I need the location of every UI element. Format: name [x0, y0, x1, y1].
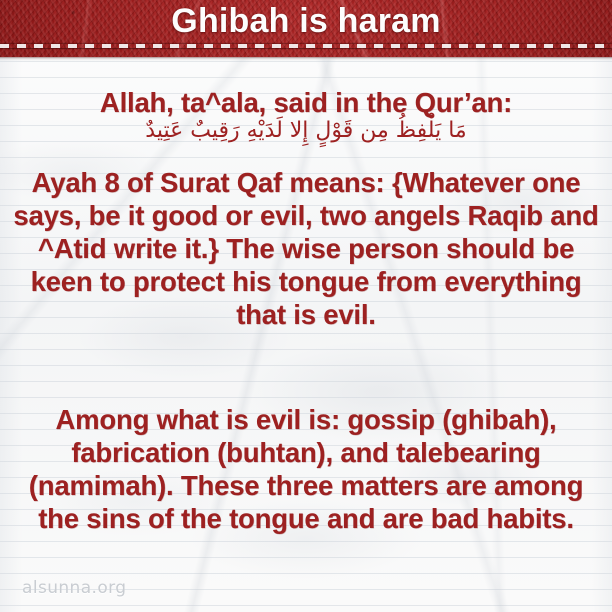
paragraph-ayah-meaning: Ayah 8 of Surat Qaf means: {Whatever one…: [8, 166, 604, 331]
site-watermark: alsunna.org: [22, 578, 126, 598]
poster-image: Ghibah is haram Allah, ta^ala, said in t…: [0, 0, 612, 612]
paragraph-sins-of-tongue: Among what is evil is: gossip (ghibah), …: [8, 403, 604, 535]
ayah-arabic-text: مَا يَلْفِظُ مِن قَوْلٍ إِلا لَدَيْهِ رَ…: [8, 117, 604, 145]
poster-body: Allah, ta^ala, said in the Qur’an: مَا ي…: [0, 0, 612, 612]
quran-intro-line: Allah, ta^ala, said in the Qur’an:: [8, 86, 604, 119]
